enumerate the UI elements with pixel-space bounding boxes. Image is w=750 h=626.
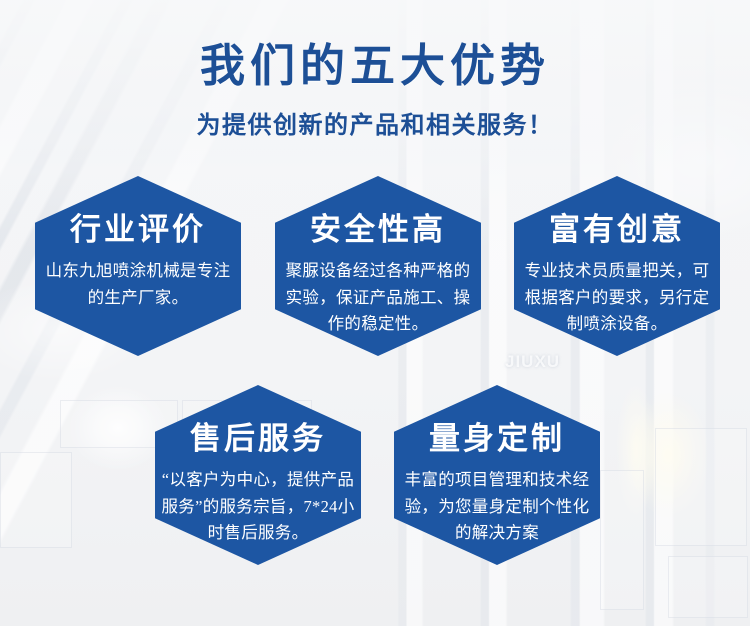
page-title: 我们的五大优势 <box>0 42 750 91</box>
advantage-body: 山东九旭喷涂机械是专注的生产厂家。 <box>39 258 237 311</box>
advantage-title: 量身定制 <box>394 423 600 454</box>
promo-banner: JIUXU 我们的五大优势 为提供创新的产品和相关服务！ 行业评价 山东九旭喷涂… <box>0 0 750 626</box>
banner-header: 我们的五大优势 为提供创新的产品和相关服务！ <box>0 42 750 140</box>
advantage-title: 富有创意 <box>514 214 720 245</box>
advantage-title: 行业评价 <box>35 214 241 245</box>
advantage-title: 售后服务 <box>155 423 361 454</box>
page-subtitle: 为提供创新的产品和相关服务！ <box>0 105 750 140</box>
advantage-title: 安全性高 <box>275 214 481 245</box>
